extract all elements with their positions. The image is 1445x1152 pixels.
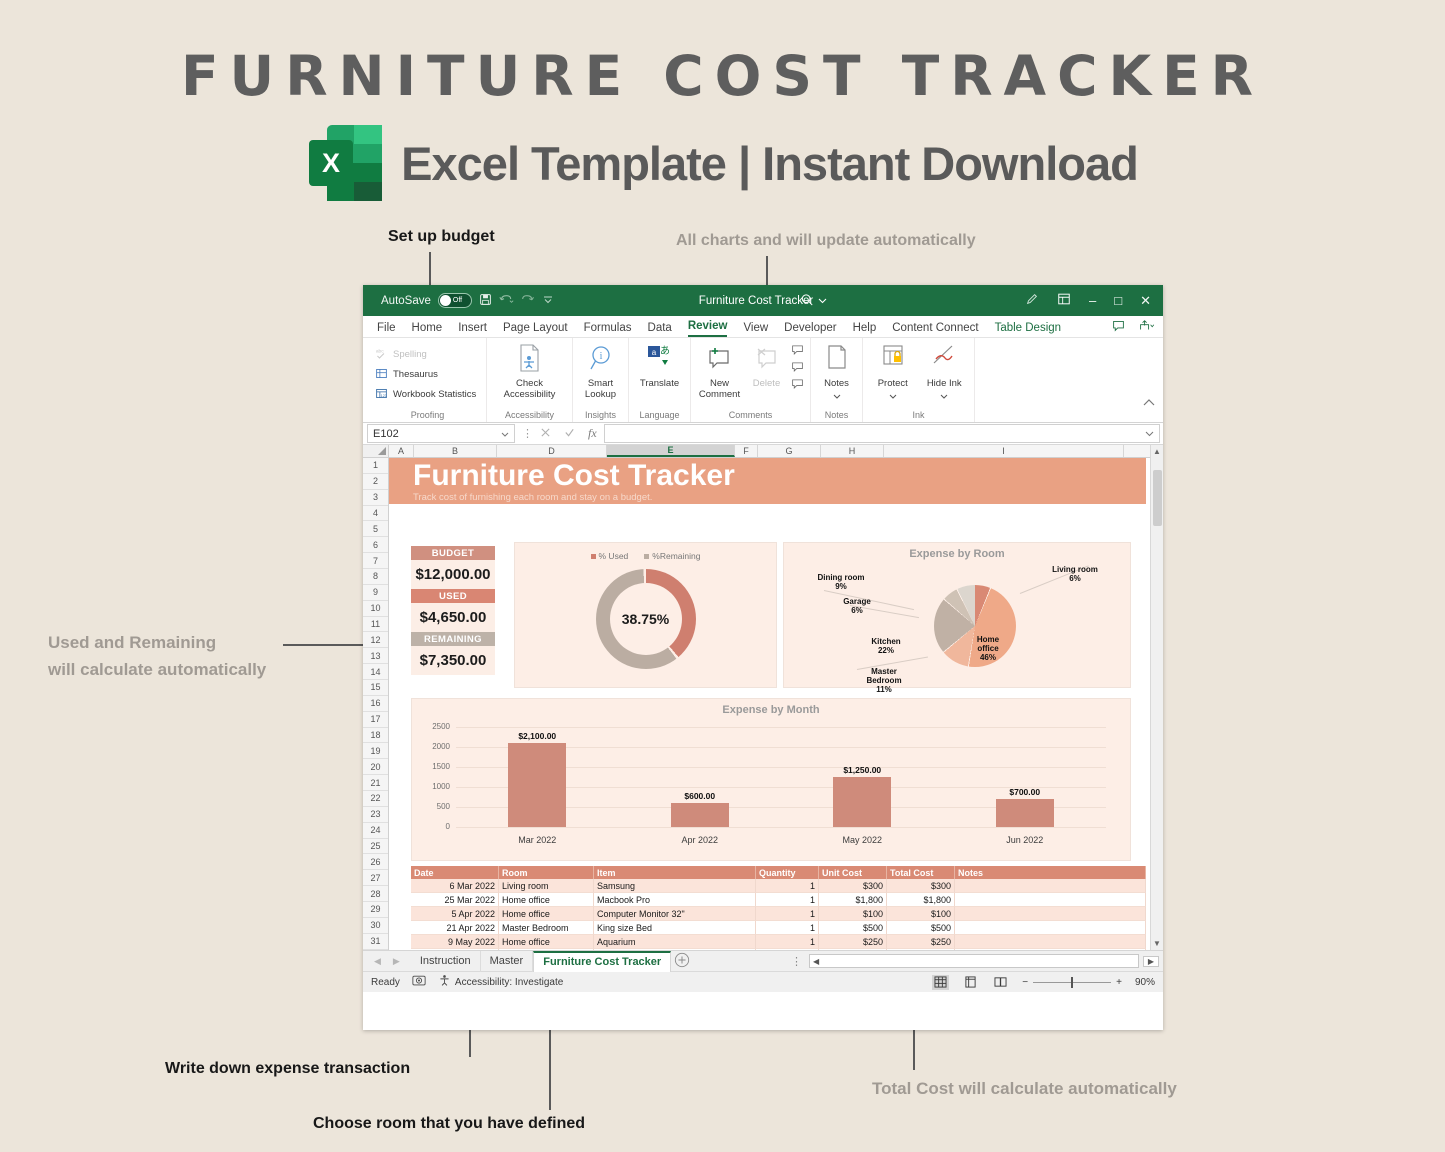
smart-lookup-label: Smart Lookup xyxy=(579,379,622,401)
bar-mar-2022[interactable] xyxy=(508,743,566,827)
cell-notes[interactable] xyxy=(955,879,1146,893)
delete-comment-button[interactable]: Delete xyxy=(744,341,789,390)
annotation-write-down-expense: Write down expense transaction xyxy=(165,1060,410,1078)
annotation-used-remaining-line2: will calculate automatically xyxy=(48,660,266,680)
column-header-G[interactable]: G xyxy=(758,445,821,457)
hide-ink-button[interactable]: Hide Ink xyxy=(921,341,969,403)
document-title: Furniture Cost Tracker xyxy=(699,295,813,307)
bar-chart-ytick: 2000 xyxy=(426,742,450,751)
select-all-corner[interactable] xyxy=(363,445,389,458)
ribbon-group-accessibility: Check Accessibility Accessibility xyxy=(487,338,573,422)
ribbon-group-label-ink: Ink xyxy=(869,410,968,422)
excel-logo-icon: X xyxy=(307,122,385,204)
row-header-30[interactable]: 30 xyxy=(363,918,388,934)
cell-total-cost[interactable]: $1,800 xyxy=(887,893,955,907)
row-header-13[interactable]: 13 xyxy=(363,648,388,664)
cell-item[interactable]: King size Bed xyxy=(594,921,756,935)
cell-total-cost[interactable]: $300 xyxy=(887,879,955,893)
kpi-panel: BUDGET $12,000.00 USED $4,650.00 REMAINI… xyxy=(411,546,495,675)
cell-item[interactable]: Computer Monitor 32" xyxy=(594,907,756,921)
ribbon-tab-table-design[interactable]: Table Design xyxy=(995,322,1061,337)
search-icon[interactable] xyxy=(800,293,814,310)
horizontal-scrollbar[interactable]: ◀ xyxy=(809,954,1139,968)
cell-date[interactable]: 25 Mar 2022 xyxy=(411,893,499,907)
bar-may-2022[interactable] xyxy=(833,777,891,827)
row-header-2[interactable]: 2 xyxy=(363,474,388,490)
cancel-icon[interactable] xyxy=(540,427,551,441)
bar-apr-2022[interactable] xyxy=(671,803,729,827)
row-header-6[interactable]: 6 xyxy=(363,537,388,553)
annotation-all-charts: All charts and will update automatically xyxy=(676,232,976,250)
spelling-label: Spelling xyxy=(393,349,427,360)
row-header-25[interactable]: 25 xyxy=(363,839,388,855)
ribbon-group-language: aあ Translate Language xyxy=(629,338,691,422)
minimize-button[interactable]: – xyxy=(1089,293,1096,308)
thesaurus-button[interactable]: Thesaurus xyxy=(375,365,438,384)
ribbon-group-label-comments: Comments xyxy=(697,410,804,422)
normal-view-button[interactable] xyxy=(932,975,949,990)
row-header-22[interactable]: 22 xyxy=(363,791,388,807)
bar-chart-ytick: 1000 xyxy=(426,782,450,791)
protect-icon xyxy=(879,343,907,377)
cell-date[interactable]: 21 Apr 2022 xyxy=(411,921,499,935)
row-header-21[interactable]: 21 xyxy=(363,775,388,791)
cell-quantity[interactable]: 1 xyxy=(756,921,819,935)
row-header-29[interactable]: 29 xyxy=(363,902,388,918)
smart-lookup-icon: i xyxy=(587,343,615,377)
row-headers: 1234567891011121314151617181920212223242… xyxy=(363,458,389,950)
maximize-button[interactable]: □ xyxy=(1114,293,1122,308)
check-accessibility-button[interactable]: Check Accessibility xyxy=(501,341,559,401)
cell-room[interactable]: Master Bedroom xyxy=(499,921,594,935)
kpi-value-used: $4,650.00 xyxy=(411,603,495,632)
row-header-28[interactable]: 28 xyxy=(363,886,388,902)
pie-label-living-room: Living room6% xyxy=(1040,565,1110,583)
sheet-tab-instruction[interactable]: Instruction xyxy=(411,951,481,972)
col-header-quantity[interactable]: Quantity xyxy=(756,866,819,879)
column-header-A[interactable]: A xyxy=(389,445,414,457)
page-break-preview-button[interactable] xyxy=(992,975,1009,990)
col-header-notes[interactable]: Notes xyxy=(955,866,1146,879)
page-title: FURNITURE COST TRACKER xyxy=(0,0,1445,108)
annotation-choose-room: Choose room that you have defined xyxy=(313,1115,585,1133)
check-accessibility-icon xyxy=(516,343,544,377)
next-comment-icon[interactable] xyxy=(791,361,804,375)
cell-total-cost[interactable]: $1,000 xyxy=(887,949,955,950)
table-row[interactable]: 9 May 2022Home officeAquarium1$250$250 xyxy=(411,935,1146,949)
new-comment-label: New Comment xyxy=(697,379,742,401)
zoom-knob[interactable] xyxy=(1071,977,1073,988)
name-box-value: E102 xyxy=(373,428,399,440)
bar-chart-gridline xyxy=(456,827,1106,828)
kpi-value-remaining: $7,350.00 xyxy=(411,646,495,675)
ribbon-display-options-icon[interactable] xyxy=(1057,292,1071,309)
pie-label-dining-room: Dining room9% xyxy=(802,573,880,591)
hide-ink-icon xyxy=(930,343,958,377)
workbook-statistics-button[interactable]: 123 Workbook Statistics xyxy=(375,385,476,404)
row-header-16[interactable]: 16 xyxy=(363,696,388,712)
autosave-label: AutoSave xyxy=(381,295,431,307)
formula-input[interactable] xyxy=(604,424,1160,443)
ribbon-tab-file[interactable]: File xyxy=(377,322,396,337)
cell-room[interactable]: Home office xyxy=(499,907,594,921)
table-row[interactable]: 25 Mar 2022Home officeMacbook Pro1$1,800… xyxy=(411,893,1146,907)
cell-date[interactable]: 19 May 2022 xyxy=(411,949,499,950)
ink-pen-icon[interactable] xyxy=(1025,292,1039,309)
zoom-level[interactable]: 90% xyxy=(1135,977,1155,988)
cell-quantity[interactable]: 1 xyxy=(756,893,819,907)
column-header-F[interactable]: F xyxy=(735,445,758,457)
ribbon-tab-view[interactable]: View xyxy=(743,322,768,337)
cell-item[interactable]: Macbook Pro xyxy=(594,893,756,907)
cell-notes[interactable] xyxy=(955,935,1146,949)
row-header-20[interactable]: 20 xyxy=(363,759,388,775)
row-header-12[interactable]: 12 xyxy=(363,632,388,648)
name-box[interactable]: E102 xyxy=(367,424,515,443)
accessibility-icon xyxy=(438,974,451,990)
cell-quantity[interactable]: 1 xyxy=(756,907,819,921)
cell-date[interactable]: 9 May 2022 xyxy=(411,935,499,949)
row-header-23[interactable]: 23 xyxy=(363,807,388,823)
row-header-1[interactable]: 1 xyxy=(363,458,388,474)
pie-label-kitchen: Kitchen22% xyxy=(862,637,910,655)
save-icon[interactable] xyxy=(479,293,492,309)
ribbon-tab-content-connect[interactable]: Content Connect xyxy=(892,322,978,337)
scroll-down-icon[interactable]: ▼ xyxy=(1153,937,1161,950)
sheet-nav-arrows[interactable]: ◀ ▶ xyxy=(363,956,411,967)
cell-total-cost[interactable]: $100 xyxy=(887,907,955,921)
sheet-canvas: Furniture Cost Tracker Track cost of fur… xyxy=(389,458,1150,950)
workbook-statistics-icon: 123 xyxy=(375,387,388,403)
chart-expense-by-month[interactable]: Expense by Month 05001000150020002500$2,… xyxy=(411,698,1131,861)
accessibility-label: Accessibility: Investigate xyxy=(455,977,563,988)
protect-button[interactable]: Protect xyxy=(869,341,917,403)
col-header-total-cost[interactable]: Total Cost xyxy=(887,866,955,879)
cell-unit-cost[interactable]: $100 xyxy=(819,907,887,921)
vertical-scroll-thumb[interactable] xyxy=(1153,470,1162,526)
ribbon-tab-bar: FileHomeInsertPage LayoutFormulasDataRev… xyxy=(363,316,1163,338)
share-icon[interactable] xyxy=(1139,319,1155,335)
row-header-31[interactable]: 31 xyxy=(363,934,388,950)
bar-data-label: $700.00 xyxy=(984,787,1066,797)
row-header-4[interactable]: 4 xyxy=(363,506,388,522)
column-header-D[interactable]: D xyxy=(497,445,607,457)
chevron-down-icon xyxy=(818,295,827,307)
cell-unit-cost[interactable]: $1,000 xyxy=(819,949,887,950)
table-row[interactable]: 21 Apr 2022Master BedroomKing size Bed1$… xyxy=(411,921,1146,935)
row-header-18[interactable]: 18 xyxy=(363,728,388,744)
table-row[interactable]: 6 Mar 2022Living roomSamsung1$300$300 xyxy=(411,879,1146,893)
kpi-label-remaining: REMAINING xyxy=(411,632,495,646)
pie-label-garage: Garage6% xyxy=(832,597,882,615)
cell-total-cost[interactable]: $500 xyxy=(887,921,955,935)
kpi-label-budget: BUDGET xyxy=(411,546,495,560)
row-header-3[interactable]: 3 xyxy=(363,490,388,506)
ribbon-body: abc Spelling Thesaurus 123 Workbook Stat… xyxy=(363,338,1163,423)
ribbon-group-label-insights: Insights xyxy=(579,410,622,422)
sheet-banner-subtitle: Track cost of furnishing each room and s… xyxy=(389,492,1146,503)
pie-label-master-bedroom: MasterBedroom11% xyxy=(856,667,912,695)
chevron-down-icon xyxy=(833,392,841,403)
delete-comment-label: Delete xyxy=(753,379,780,390)
previous-comment-icon[interactable] xyxy=(791,344,804,358)
svg-text:i: i xyxy=(599,351,602,362)
donut-legend: % Used %Remaining xyxy=(515,543,776,561)
pie-chart-title: Expense by Room xyxy=(784,543,1130,560)
promo-subtitle-row: X Excel Template | Instant Download xyxy=(0,122,1445,204)
column-header-H[interactable]: H xyxy=(821,445,884,457)
autosave-toggle[interactable]: Off xyxy=(438,293,472,308)
ribbon-group-label-language: Language xyxy=(635,410,684,422)
cell-notes[interactable] xyxy=(955,893,1146,907)
row-header-10[interactable]: 10 xyxy=(363,601,388,617)
row-header-9[interactable]: 9 xyxy=(363,585,388,601)
zoom-in-button[interactable]: + xyxy=(1116,977,1122,988)
annotation-total-cost-auto: Total Cost will calculate automatically xyxy=(872,1079,1177,1099)
hscroll-right-icon[interactable]: ▶ xyxy=(1143,956,1159,967)
cell-item[interactable]: Table and Chairs xyxy=(594,949,756,950)
table-header-row: Date Room Item Quantity Unit Cost Total … xyxy=(411,866,1146,879)
macro-record-icon[interactable] xyxy=(412,974,426,990)
quick-access-more-icon[interactable] xyxy=(543,294,553,307)
cell-notes[interactable] xyxy=(955,921,1146,935)
ribbon-tab-review[interactable]: Review xyxy=(688,320,728,337)
zoom-out-button[interactable]: − xyxy=(1022,977,1028,988)
cell-unit-cost[interactable]: $1,800 xyxy=(819,893,887,907)
chevron-down-icon xyxy=(940,392,948,403)
svg-text:あ: あ xyxy=(660,345,670,357)
spelling-icon: abc xyxy=(375,347,388,363)
donut-center-label: 38.75% xyxy=(610,583,682,655)
bar-chart-ytick: 0 xyxy=(426,822,450,831)
cell-date[interactable]: 6 Mar 2022 xyxy=(411,879,499,893)
protect-label: Protect xyxy=(878,379,908,390)
bar-data-label: $1,250.00 xyxy=(821,765,903,775)
ribbon-group-insights: i Smart Lookup Insights xyxy=(573,338,629,422)
add-sheet-button[interactable] xyxy=(671,952,693,971)
hide-ink-label: Hide Ink xyxy=(927,379,962,390)
spelling-button[interactable]: abc Spelling xyxy=(375,345,427,364)
cell-room[interactable]: Living room xyxy=(499,879,594,893)
table-body: 6 Mar 2022Living roomSamsung1$300$30025 … xyxy=(411,879,1146,950)
ribbon-group-ink: Protect Hide Ink Ink xyxy=(863,338,975,422)
cell-room[interactable]: Home office xyxy=(499,893,594,907)
notes-icon xyxy=(823,343,851,377)
status-bar: Ready Accessibility: Investigate − + xyxy=(363,971,1163,992)
sheet-banner-title: Furniture Cost Tracker xyxy=(389,458,1146,492)
ribbon-group-proofing: abc Spelling Thesaurus 123 Workbook Stat… xyxy=(369,338,487,422)
new-comment-button[interactable]: New Comment xyxy=(697,341,742,401)
row-header-19[interactable]: 19 xyxy=(363,743,388,759)
cell-room[interactable]: Home office xyxy=(499,935,594,949)
svg-text:123: 123 xyxy=(381,393,387,397)
bar-data-label: $600.00 xyxy=(659,791,741,801)
translate-button[interactable]: aあ Translate xyxy=(635,341,684,390)
status-ready: Ready xyxy=(371,977,400,988)
ribbon-group-notes: Notes Notes xyxy=(811,338,863,422)
row-header-26[interactable]: 26 xyxy=(363,854,388,870)
chart-budget-donut[interactable]: % Used %Remaining 38.75% xyxy=(514,542,777,688)
workbook-statistics-label: Workbook Statistics xyxy=(393,389,476,400)
ribbon-tab-formulas[interactable]: Formulas xyxy=(584,322,632,337)
cell-item[interactable]: Samsung xyxy=(594,879,756,893)
row-header-11[interactable]: 11 xyxy=(363,617,388,633)
annotation-used-remaining-line1: Used and Remaining xyxy=(48,633,216,653)
ribbon-tab-data[interactable]: Data xyxy=(648,322,672,337)
cell-quantity[interactable]: 1 xyxy=(756,949,819,950)
notes-label: Notes xyxy=(824,379,849,390)
sheet-banner: Furniture Cost Tracker Track cost of fur… xyxy=(389,458,1146,504)
row-header-24[interactable]: 24 xyxy=(363,823,388,839)
thesaurus-icon xyxy=(375,367,388,383)
column-header-B[interactable]: B xyxy=(414,445,497,457)
row-header-7[interactable]: 7 xyxy=(363,553,388,569)
ribbon-tab-insert[interactable]: Insert xyxy=(458,322,487,337)
col-header-room[interactable]: Room xyxy=(499,866,594,879)
kpi-value-budget[interactable]: $12,000.00 xyxy=(411,560,495,589)
bar-data-label: $2,100.00 xyxy=(496,731,578,741)
bar-category-label: Jun 2022 xyxy=(944,835,1107,845)
ribbon-tab-developer[interactable]: Developer xyxy=(784,322,836,337)
column-headers: ABDEFGHI xyxy=(389,445,1150,458)
new-comment-icon xyxy=(706,343,734,377)
sheet-tab-bar: ◀ ▶ Instruction Master Furniture Cost Tr… xyxy=(363,950,1163,971)
smart-lookup-button[interactable]: i Smart Lookup xyxy=(579,341,622,401)
pie-label-home-office: Homeoffice46% xyxy=(967,635,1009,663)
insert-function-icon[interactable]: fx xyxy=(588,426,597,441)
bar-chart-plot: 05001000150020002500$2,100.00Mar 2022$60… xyxy=(412,699,1132,862)
col-header-item[interactable]: Item xyxy=(594,866,756,879)
delete-comment-icon xyxy=(753,343,781,377)
check-accessibility-label: Check Accessibility xyxy=(501,379,559,401)
ribbon-group-label-proofing: Proofing xyxy=(375,410,480,422)
bar-category-label: May 2022 xyxy=(781,835,944,845)
cell-quantity[interactable]: 1 xyxy=(756,935,819,949)
cell-unit-cost[interactable]: $500 xyxy=(819,921,887,935)
ribbon-group-label-notes: Notes xyxy=(817,410,856,422)
ribbon-tab-help[interactable]: Help xyxy=(853,322,877,337)
scroll-up-icon[interactable]: ▲ xyxy=(1153,445,1161,458)
cell-unit-cost[interactable]: $300 xyxy=(819,879,887,893)
cell-date[interactable]: 5 Apr 2022 xyxy=(411,907,499,921)
spreadsheet-grid: 1234567891011121314151617181920212223242… xyxy=(363,445,1163,950)
notes-button[interactable]: Notes xyxy=(817,341,856,403)
bar-chart-ytick: 2500 xyxy=(426,722,450,731)
ribbon-tab-home[interactable]: Home xyxy=(412,322,443,337)
chevron-down-icon xyxy=(501,428,509,440)
bar-chart-ytick: 500 xyxy=(426,802,450,811)
bar-jun-2022[interactable] xyxy=(996,799,1054,827)
thesaurus-label: Thesaurus xyxy=(393,369,438,380)
comments-icon[interactable] xyxy=(1112,319,1125,335)
accessibility-status[interactable]: Accessibility: Investigate xyxy=(438,974,563,990)
excel-logo-letter: X xyxy=(322,148,340,178)
translate-icon: aあ xyxy=(646,343,674,377)
title-bar: AutoSave Off Furniture Cost Tracker xyxy=(363,285,1163,316)
col-header-unit-cost[interactable]: Unit Cost xyxy=(819,866,887,879)
zoom-track[interactable] xyxy=(1033,982,1111,983)
excel-window: AutoSave Off Furniture Cost Tracker xyxy=(363,285,1163,1030)
column-header-I[interactable]: I xyxy=(884,445,1124,457)
svg-text:a: a xyxy=(651,348,656,357)
row-header-17[interactable]: 17 xyxy=(363,712,388,728)
bar-chart-ytick: 1500 xyxy=(426,762,450,771)
bar-chart-gridline xyxy=(456,727,1106,728)
sheet-tab-furniture-cost-tracker[interactable]: Furniture Cost Tracker xyxy=(533,951,671,972)
sheet-prev-icon[interactable]: ◀ xyxy=(374,956,381,967)
translate-label: Translate xyxy=(640,379,679,390)
bar-category-label: Apr 2022 xyxy=(619,835,782,845)
annotation-set-up-budget: Set up budget xyxy=(388,228,495,246)
formula-bar-handle[interactable]: ⋮ xyxy=(515,427,540,440)
expense-table: Date Room Item Quantity Unit Cost Total … xyxy=(411,866,1146,950)
promo-subtitle: Excel Template | Instant Download xyxy=(401,136,1138,191)
donut-legend-used: % Used xyxy=(591,551,629,561)
table-row[interactable]: 19 May 2022KitchenTable and Chairs1$1,00… xyxy=(411,949,1146,950)
cell-room[interactable]: Kitchen xyxy=(499,949,594,950)
kpi-label-used: USED xyxy=(411,589,495,603)
redo-icon[interactable] xyxy=(521,293,536,308)
row-header-14[interactable]: 14 xyxy=(363,664,388,680)
sheet-tab-splitter[interactable]: ⋮ xyxy=(785,955,809,968)
page-layout-view-button[interactable] xyxy=(962,975,979,990)
row-header-8[interactable]: 8 xyxy=(363,569,388,585)
vertical-scrollbar[interactable]: ▲ ▼ xyxy=(1150,445,1163,950)
chart-expense-by-room[interactable]: Expense by Room Dining room9% Garage6% K… xyxy=(783,542,1131,688)
cell-unit-cost[interactable]: $250 xyxy=(819,935,887,949)
close-button[interactable]: ✕ xyxy=(1140,293,1151,309)
cell-notes[interactable] xyxy=(955,907,1146,921)
column-header-E[interactable]: E xyxy=(607,445,735,457)
autosave-state: Off xyxy=(453,297,462,304)
row-header-27[interactable]: 27 xyxy=(363,870,388,886)
ribbon-tab-page-layout[interactable]: Page Layout xyxy=(503,322,568,337)
donut-ring: 38.75% xyxy=(596,569,696,669)
show-comments-icon[interactable] xyxy=(791,378,804,392)
cell-quantity[interactable]: 1 xyxy=(756,879,819,893)
cell-notes[interactable] xyxy=(955,949,1146,950)
enter-icon[interactable] xyxy=(564,427,575,441)
horizontal-scroll-thumb[interactable] xyxy=(822,955,1138,967)
formula-expand-icon[interactable] xyxy=(1145,428,1154,440)
sheet-tab-master[interactable]: Master xyxy=(481,951,534,972)
donut-legend-remaining: %Remaining xyxy=(644,551,700,561)
ribbon-group-comments: New Comment Delete xyxy=(691,338,811,422)
cell-item[interactable]: Aquarium xyxy=(594,935,756,949)
bar-category-label: Mar 2022 xyxy=(456,835,619,845)
hscroll-left-icon[interactable]: ◀ xyxy=(810,957,822,966)
table-row[interactable]: 5 Apr 2022Home officeComputer Monitor 32… xyxy=(411,907,1146,921)
cell-total-cost[interactable]: $250 xyxy=(887,935,955,949)
zoom-slider[interactable]: − + xyxy=(1022,977,1122,988)
row-header-15[interactable]: 15 xyxy=(363,680,388,696)
collapse-ribbon-icon[interactable] xyxy=(1143,398,1155,410)
col-header-date[interactable]: Date xyxy=(411,866,499,879)
chevron-down-icon xyxy=(889,392,897,403)
ribbon-group-label-accessibility: Accessibility xyxy=(493,410,566,422)
sheet-next-icon[interactable]: ▶ xyxy=(393,956,400,967)
undo-icon[interactable] xyxy=(499,293,514,308)
row-header-5[interactable]: 5 xyxy=(363,521,388,537)
formula-bar: E102 ⋮ fx xyxy=(363,423,1163,445)
